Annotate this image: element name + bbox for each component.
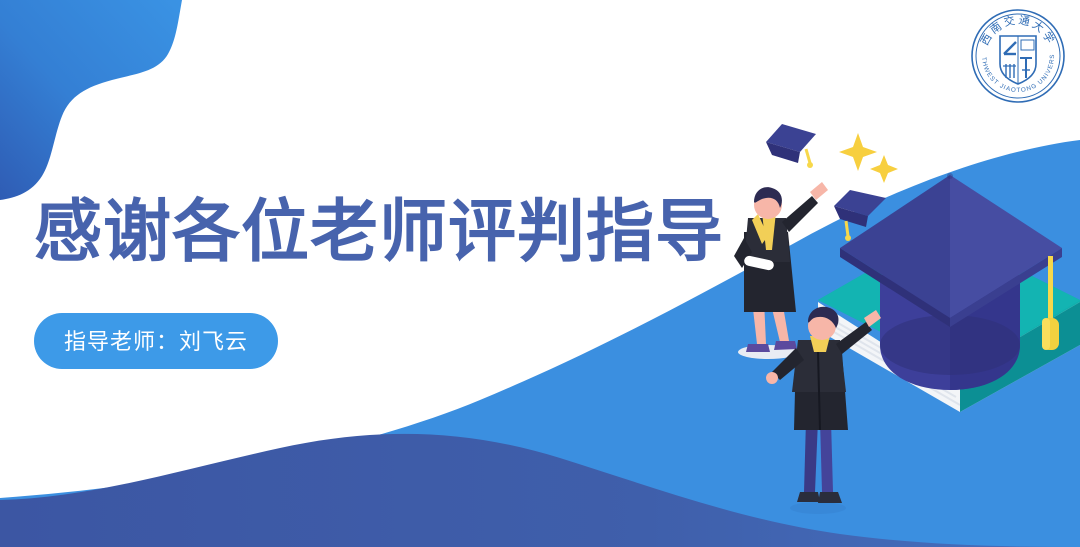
flying-mortarboard-icon-1: [766, 124, 816, 168]
logo-shield-icon: [1000, 36, 1036, 84]
title-block: 感谢各位老师评判指导 指导老师：刘飞云: [34, 196, 724, 369]
instructor-badge: 指导老师：刘飞云: [34, 313, 278, 369]
sparkle-icon-1: [839, 133, 877, 171]
page-title: 感谢各位老师评判指导: [34, 196, 724, 269]
sparkle-icon-2: [870, 155, 898, 183]
presentation-slide: 感谢各位老师评判指导 指导老师：刘飞云 西南交通大学 SOUTHWEST JIA…: [0, 0, 1080, 547]
university-logo: 西南交通大学 SOUTHWEST JIAOTONG UNIVERSITY: [970, 8, 1066, 104]
